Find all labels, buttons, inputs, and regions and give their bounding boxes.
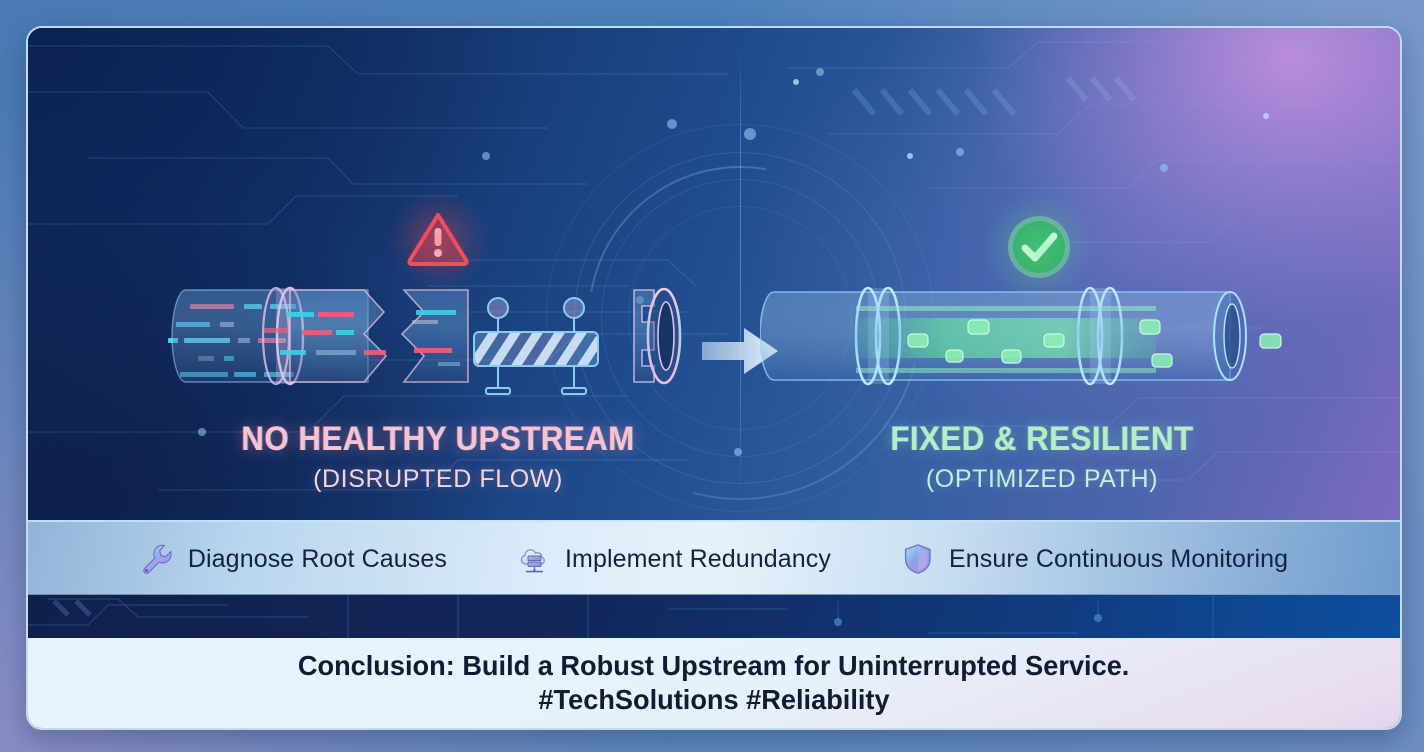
conclusion-line-2: #TechSolutions #Reliability: [538, 683, 889, 717]
hero-scene: NO HEALTHY UPSTREAM (DISRUPTED FLOW) FIX…: [28, 28, 1400, 520]
server-cloud-icon: [517, 542, 551, 576]
action-item-diagnose[interactable]: Diagnose Root Causes: [140, 542, 447, 576]
action-item-label: Implement Redundancy: [565, 545, 831, 574]
warning-triangle-icon: [406, 210, 470, 268]
infographic-canvas: NO HEALTHY UPSTREAM (DISRUPTED FLOW) FIX…: [0, 0, 1424, 752]
broken-pipe-illustration: [168, 276, 708, 396]
shield-icon: [901, 542, 935, 576]
left-caption: NO HEALTHY UPSTREAM (DISRUPTED FLOW): [138, 420, 738, 494]
action-item-label: Diagnose Root Causes: [188, 545, 447, 574]
check-circle-icon: [1006, 214, 1072, 280]
action-item-redundancy[interactable]: Implement Redundancy: [517, 542, 831, 576]
right-caption: FIXED & RESILIENT (OPTIMIZED PATH): [742, 420, 1342, 494]
conclusion-line-1: Conclusion: Build a Robust Upstream for …: [298, 649, 1130, 683]
right-caption-title: FIXED & RESILIENT: [766, 420, 1318, 458]
left-caption-title: NO HEALTHY UPSTREAM: [162, 420, 714, 458]
action-item-label: Ensure Continuous Monitoring: [949, 545, 1288, 574]
right-caption-subtitle: (OPTIMIZED PATH): [742, 465, 1342, 494]
tech-strip: [28, 594, 1400, 640]
wrench-icon: [140, 542, 174, 576]
tech-strip-circuit: [28, 595, 1400, 639]
left-caption-subtitle: (DISRUPTED FLOW): [138, 465, 738, 494]
conclusion-banner: Conclusion: Build a Robust Upstream for …: [28, 638, 1400, 728]
infographic-card: NO HEALTHY UPSTREAM (DISRUPTED FLOW) FIX…: [26, 26, 1402, 730]
action-bar: Diagnose Root Causes: [28, 520, 1400, 596]
action-item-monitoring[interactable]: Ensure Continuous Monitoring: [901, 542, 1288, 576]
